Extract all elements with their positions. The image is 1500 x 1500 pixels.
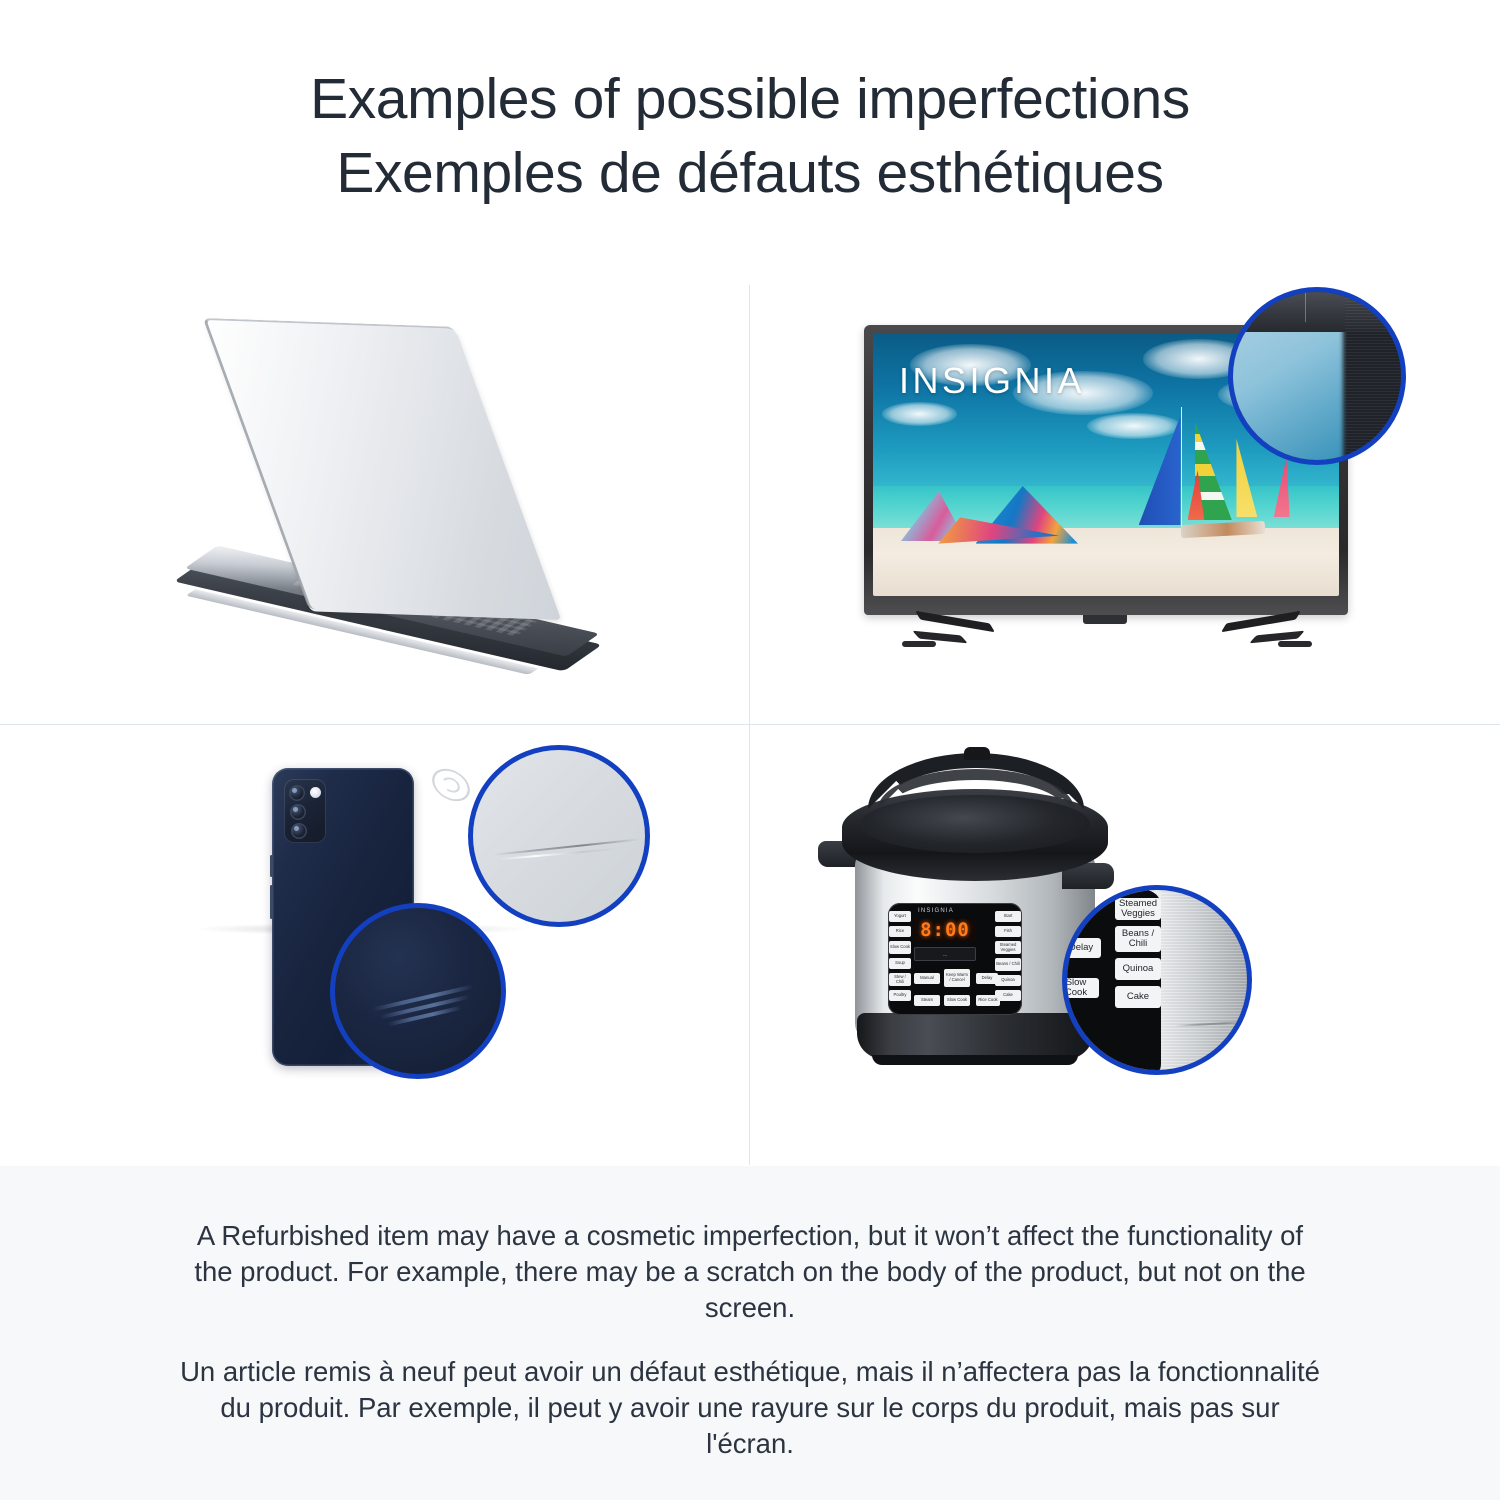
pressure-cooker-magnifier-circle: Steamed Veggies Beans / Chili Quinoa Cak…: [1062, 885, 1252, 1075]
screen-mast: [1181, 407, 1182, 528]
smartphone-camera-module: [284, 779, 326, 843]
smartphone-magnifier-circle: [330, 903, 506, 1079]
cooker-button[interactable]: Yogurt: [889, 911, 911, 922]
screen-cloud: [882, 402, 957, 426]
cooker-button[interactable]: Stew / Chili: [889, 973, 911, 986]
television-stand-foot-left: [902, 641, 936, 647]
magnified-cooker-button[interactable]: Delay: [1062, 938, 1101, 958]
cooker-panel-right-column: Start Fish Steamed Veggies Beans / Chili…: [995, 911, 1021, 1001]
smartphone-illustration: [0, 725, 750, 1165]
magnified-cooker-button[interactable]: Steamed Veggies: [1115, 898, 1161, 920]
television-magnifier-circle: [1228, 287, 1406, 465]
cooker-button[interactable]: Rice: [889, 926, 911, 937]
magnified-cooker-button[interactable]: Quinoa: [1115, 958, 1161, 980]
cooker-control-panel: INSIGNIA 8:00 Yogurt Rice Slow Cook Soup…: [888, 903, 1022, 1015]
cooker-pressure-valve-icon: [964, 747, 990, 760]
cooker-button[interactable]: Slow Cook: [944, 995, 970, 1006]
cooker-feet: [872, 1055, 1078, 1065]
cooker-panel-left-column: Yogurt Rice Slow Cook Soup Stew / Chili …: [889, 911, 911, 1001]
cooker-button[interactable]: Keep Warm / Cancel: [944, 969, 970, 987]
page-title: Examples of possible imperfections Exemp…: [0, 62, 1500, 210]
example-cell-television: INSIGNIA: [750, 285, 1500, 725]
television-bottom-logo-nub: [1083, 615, 1127, 624]
cooker-button[interactable]: Manual: [914, 973, 940, 984]
footer-paragraph-french: Un article remis à neuf peut avoir un dé…: [180, 1354, 1320, 1462]
cooker-button[interactable]: Rice Cook: [976, 995, 1000, 1006]
magnified-cooker-button[interactable]: Beans / Chili: [1115, 926, 1161, 952]
footer-description: A Refurbished item may have a cosmetic i…: [0, 1166, 1500, 1500]
magnified-cooker-button[interactable]: Cake: [1115, 986, 1161, 1008]
magnified-brushed-steel: [1161, 890, 1252, 1075]
cooker-button[interactable]: Beans / Chili: [995, 958, 1021, 971]
cooker-base: [857, 1013, 1093, 1059]
smartphone-power-button: [270, 885, 273, 919]
magnified-bezel-right: [1345, 292, 1406, 465]
cooker-button[interactable]: Steamed Veggies: [995, 941, 1021, 954]
example-cell-laptop: [0, 285, 750, 725]
television-brand-logo: INSIGNIA: [899, 360, 1085, 402]
cooker-mode-subdisplay: ---: [914, 947, 976, 961]
footer-paragraph-english: A Refurbished item may have a cosmetic i…: [180, 1218, 1320, 1326]
smartphone-volume-button: [270, 855, 273, 877]
screen-cloud: [1087, 413, 1180, 439]
cooker-button[interactable]: Poultry: [889, 990, 911, 1001]
example-cell-smartphone: [0, 725, 750, 1165]
camera-lens-icon: [291, 823, 307, 839]
examples-grid: INSIGNIA: [0, 285, 1500, 1165]
cooker-timer-display: 8:00: [914, 919, 976, 941]
cooker-panel-brand: INSIGNIA: [918, 908, 954, 914]
pressure-cooker-illustration: INSIGNIA 8:00 Yogurt Rice Slow Cook Soup…: [750, 725, 1500, 1165]
magnified-screen-area: [1228, 324, 1343, 465]
cooker-button[interactable]: Steam: [914, 995, 940, 1006]
refurbished-imperfections-infographic: Examples of possible imperfections Exemp…: [0, 0, 1500, 1500]
laptop-illustration: [0, 285, 750, 725]
television-illustration: INSIGNIA: [750, 285, 1500, 725]
camera-flash-icon: [310, 787, 321, 798]
cooker-button[interactable]: Delay: [976, 973, 998, 984]
cooker-button[interactable]: Soup: [889, 958, 911, 969]
cooker-button[interactable]: Fish: [995, 926, 1021, 937]
camera-lens-icon: [290, 804, 306, 820]
title-line-english: Examples of possible imperfections: [0, 62, 1500, 136]
magnified-cooker-button[interactable]: Slow Cook: [1062, 978, 1099, 998]
magnified-bezel-seam: [1305, 292, 1306, 322]
cooker-button[interactable]: Quinoa: [995, 975, 1021, 986]
title-line-french: Exemples de défauts esthétiques: [0, 136, 1500, 210]
camera-lens-icon: [289, 785, 305, 801]
television-stand-foot-right: [1278, 641, 1312, 647]
cooker-button[interactable]: Start: [995, 911, 1021, 922]
example-cell-pressure-cooker: INSIGNIA 8:00 Yogurt Rice Slow Cook Soup…: [750, 725, 1500, 1165]
cooker-button[interactable]: Slow Cook: [889, 941, 911, 954]
